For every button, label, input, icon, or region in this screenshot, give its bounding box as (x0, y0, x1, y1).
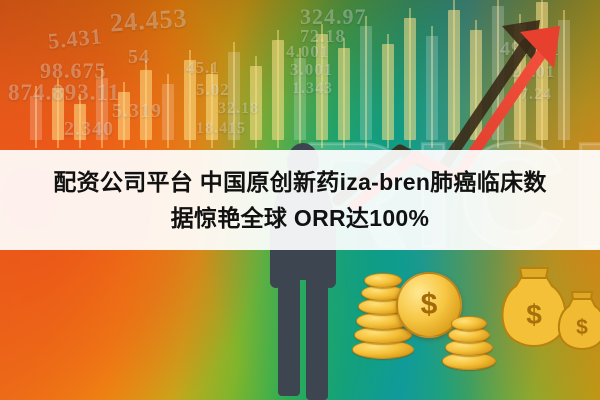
svg-text:$: $ (576, 316, 588, 339)
ticker-number: 54 (128, 46, 150, 69)
ticker-number: 3.001 (290, 60, 333, 80)
headline-line-1: 配资公司平台 中国原创新药iza-bren肺癌临床数 (20, 164, 580, 200)
money-bag-small: $ (556, 288, 600, 350)
ticker-number: 5.02 (196, 80, 230, 100)
ticker-number: 1.343 (292, 80, 333, 98)
ticker-number: 5.319 (112, 100, 162, 123)
ticker-number: 32.18 (218, 100, 259, 118)
ticker-number: 24.453 (109, 3, 188, 38)
coin-stack-right (442, 300, 502, 370)
news-image: 24.453324.975.43172.18544.00198.67545.13… (0, 0, 600, 400)
ticker-number: 4.001 (286, 42, 329, 62)
ticker-number: 45.1 (186, 58, 220, 78)
headline-line-2: 据惊艳全球 ORR达100% (20, 200, 580, 236)
money-bag-dollar-symbol: $ (526, 299, 542, 330)
candle-bar (272, 40, 284, 140)
ticker-number: 18.415 (196, 120, 246, 138)
ticker-number: 874.893.11 (8, 80, 120, 106)
candle-bar (162, 84, 174, 140)
headline-banner: 配资公司平台 中国原创新药iza-bren肺癌临床数 据惊艳全球 ORR达100… (0, 150, 600, 250)
coin-dollar-symbol: $ (421, 288, 438, 322)
headline-text: 配资公司平台 中国原创新药iza-bren肺癌临床数 据惊艳全球 ORR达100… (20, 164, 580, 236)
ticker-number: 2.340 (64, 118, 114, 141)
